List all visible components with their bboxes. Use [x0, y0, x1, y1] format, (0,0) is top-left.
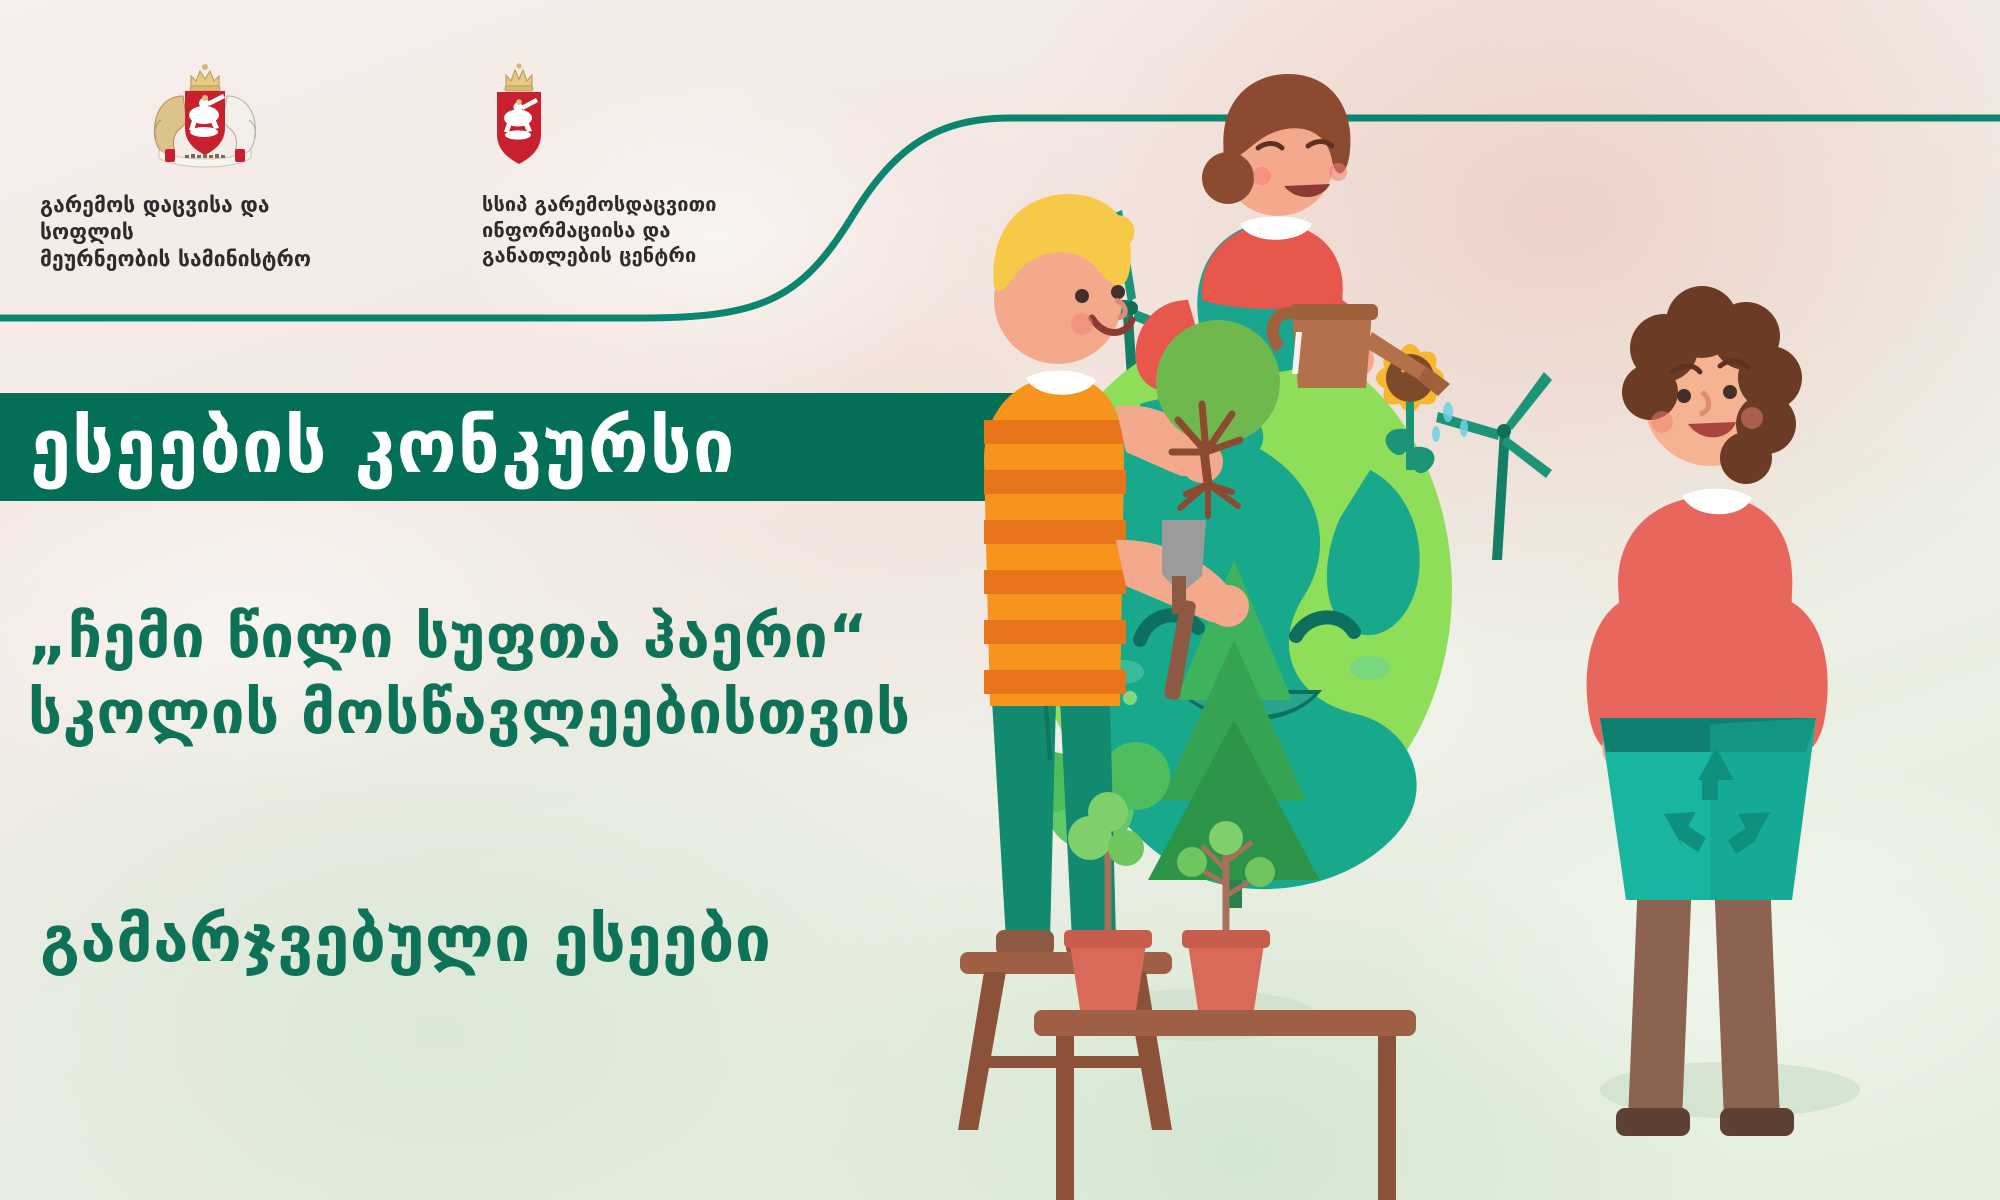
boy-eye — [1111, 285, 1125, 299]
organization-ministry: გარემოს დაცვისა და სოფლის მეურნეობის სამ… — [40, 58, 370, 273]
boy-shoe — [1720, 1108, 1794, 1136]
logo-row: გარემოს დაცვისა და სოფლის მეურნეობის სამ… — [40, 58, 812, 273]
footer-headline: გამარჯვებული ესეები — [40, 905, 771, 975]
georgia-state-coat-of-arms-icon — [40, 58, 370, 176]
page-title: ესეების კონკურსი — [0, 410, 735, 484]
organization-center: სსიპ გარემოსდაცვითი ინფორმაციისა და განა… — [482, 58, 812, 269]
recycling-bin — [1600, 718, 1816, 900]
wind-turbine — [1436, 372, 1552, 560]
children-planting-earth-illustration — [940, 0, 2000, 1200]
boy-eye — [1723, 385, 1737, 399]
organization-ministry-label: გარემოს დაცვისა და სოფლის მეურნეობის სამ… — [40, 192, 370, 273]
boy-shoe — [1616, 1108, 1690, 1136]
boy-curly-recycling-bin — [1587, 286, 1828, 1136]
boy-hand — [1207, 585, 1249, 627]
poster-canvas: გარემოს დაცვისა და სოფლის მეურნეობის სამ… — [0, 0, 2000, 1200]
header: გარემოს დაცვისა და სოფლის მეურნეობის სამ… — [0, 0, 1100, 360]
boy-eye — [1677, 389, 1691, 403]
boy-eye — [1075, 289, 1089, 303]
watering-can — [1292, 312, 1372, 388]
globe-blush — [1350, 656, 1390, 680]
tbilisi-coat-of-arms-icon — [482, 58, 812, 176]
organization-center-label: სსიპ გარემოსდაცვითი ინფორმაციისა და განა… — [482, 192, 812, 269]
